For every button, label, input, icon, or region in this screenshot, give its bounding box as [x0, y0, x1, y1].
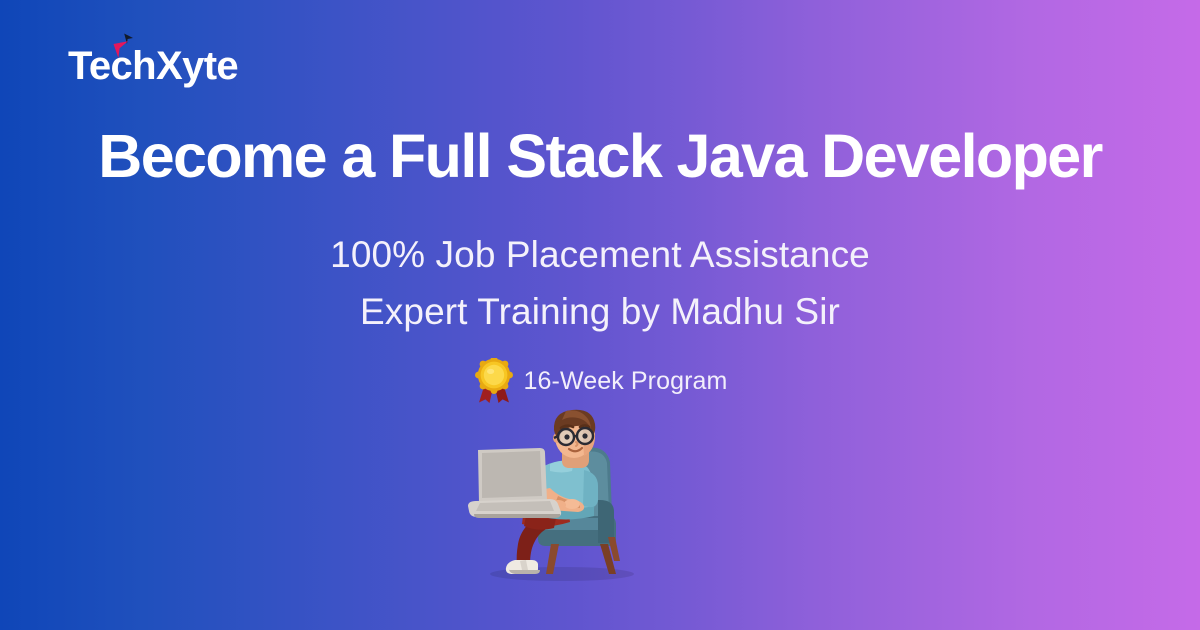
award-rosette-icon	[473, 358, 515, 404]
developer-illustration	[466, 404, 656, 584]
brand-logo[interactable]: TechXyte	[68, 38, 238, 94]
promo-banner: TechXyte Become a Full Stack Java Develo…	[0, 0, 1200, 630]
program-duration-badge: 16-Week Program	[0, 358, 1200, 404]
page-title: Become a Full Stack Java Developer	[0, 118, 1200, 194]
developer-on-armchair-with-laptop-icon	[466, 404, 656, 584]
brand-logo-text: TechXyte	[68, 38, 238, 94]
program-duration-label: 16-Week Program	[524, 364, 728, 398]
subtitle-block: 100% Job Placement Assistance Expert Tra…	[0, 226, 1200, 340]
subtitle-line-1: 100% Job Placement Assistance	[0, 226, 1200, 283]
subtitle-line-2: Expert Training by Madhu Sir	[0, 283, 1200, 340]
